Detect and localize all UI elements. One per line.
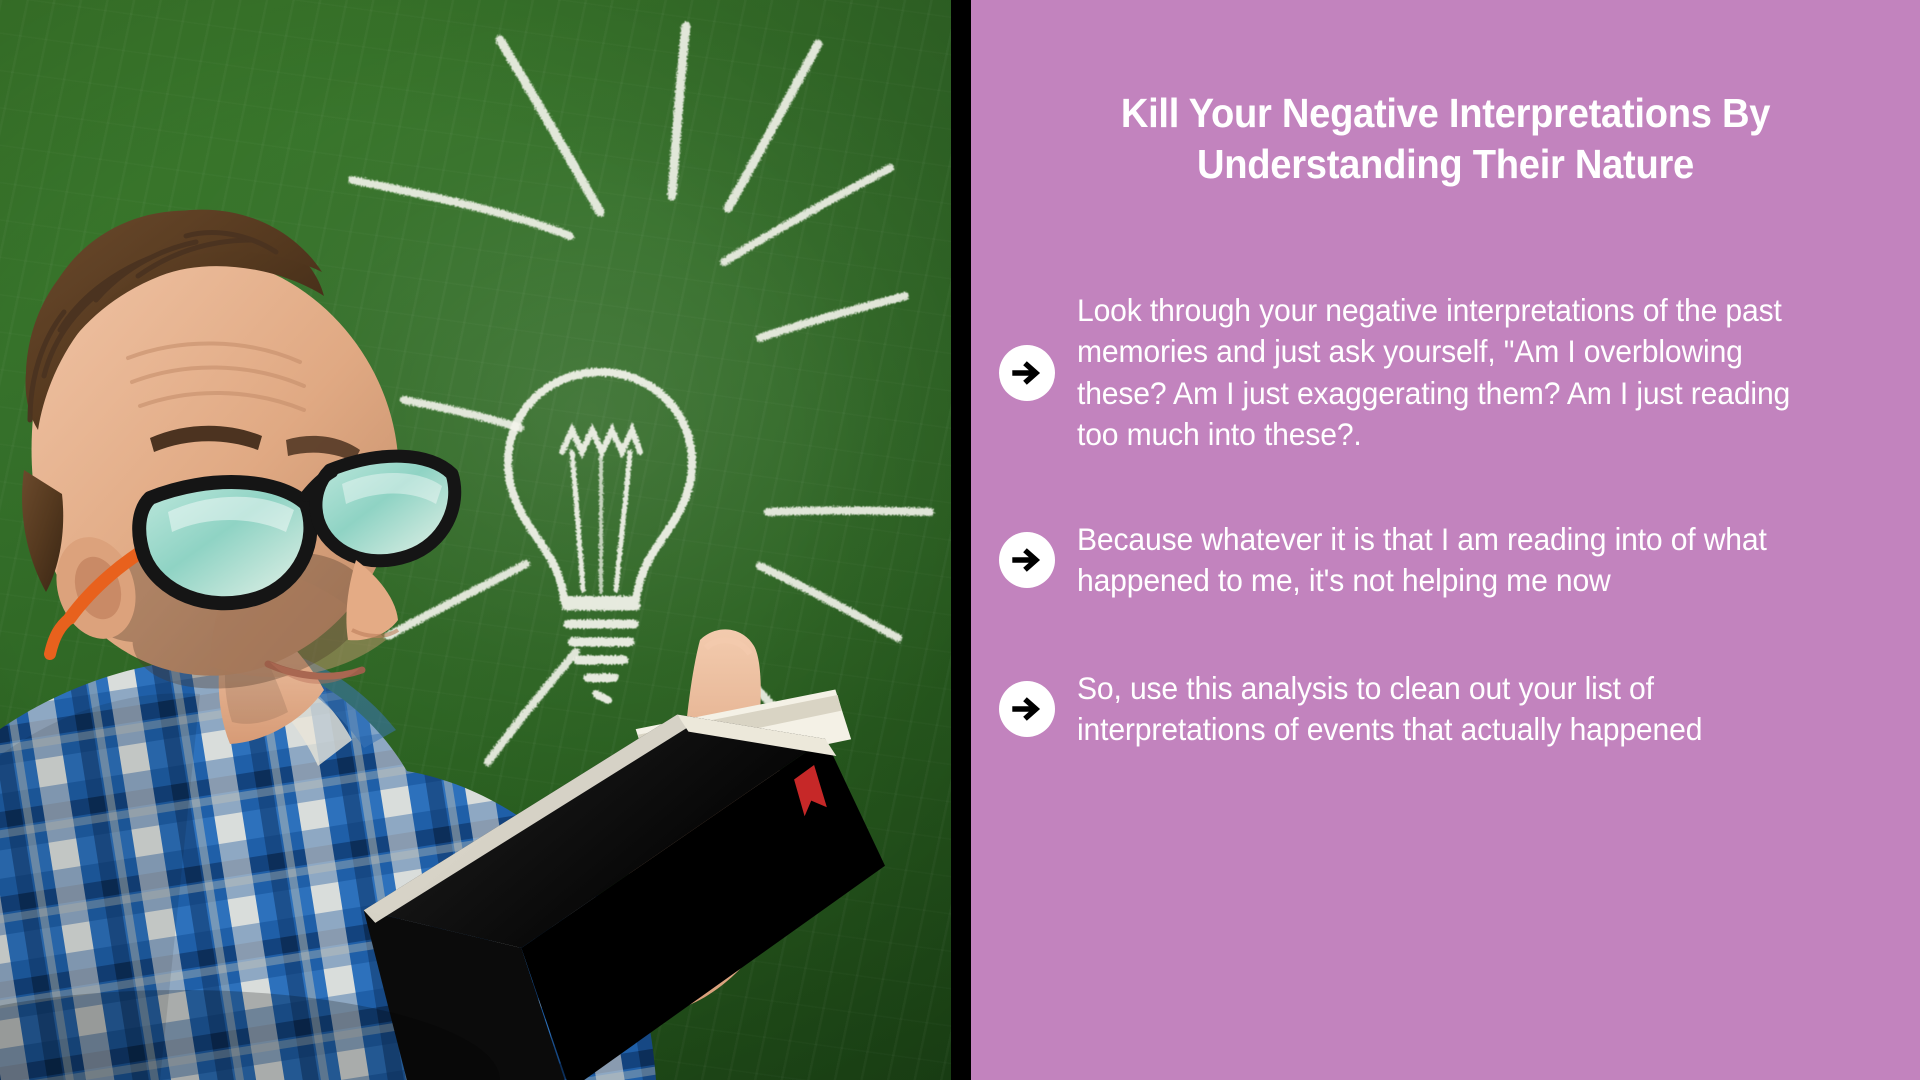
person-photo-illustration bbox=[0, 0, 951, 1080]
arrow-right-circle-icon bbox=[999, 681, 1055, 737]
list-item-text: Because whatever it is that I am reading… bbox=[1077, 519, 1851, 602]
hero-photo bbox=[0, 0, 951, 1080]
list-item: Because whatever it is that I am reading… bbox=[971, 519, 1920, 602]
arrow-right-circle-icon bbox=[999, 345, 1055, 401]
list-item-text: Look through your negative interpretatio… bbox=[1077, 290, 1851, 455]
bullet-list: Look through your negative interpretatio… bbox=[971, 290, 1920, 750]
slide-title: Kill Your Negative Interpretations By Un… bbox=[1032, 88, 1859, 190]
list-item: So, use this analysis to clean out your … bbox=[971, 668, 1920, 751]
content-panel: Kill Your Negative Interpretations By Un… bbox=[971, 0, 1920, 1080]
vertical-divider bbox=[951, 0, 971, 1080]
list-item-text: So, use this analysis to clean out your … bbox=[1077, 668, 1851, 751]
list-item: Look through your negative interpretatio… bbox=[971, 290, 1920, 455]
arrow-right-circle-icon bbox=[999, 532, 1055, 588]
slide-root: Kill Your Negative Interpretations By Un… bbox=[0, 0, 1920, 1080]
